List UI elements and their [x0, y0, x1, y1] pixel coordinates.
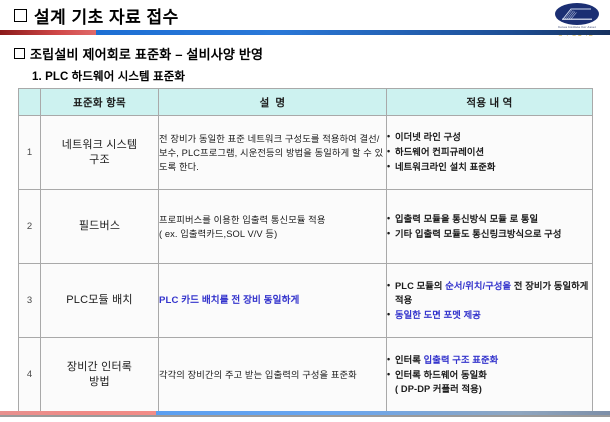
footer-rule	[0, 415, 610, 417]
subsection-heading: 1. PLC 하드웨어 시스템 표준화	[32, 68, 185, 84]
application-item: 이더넷 라인 구성	[387, 130, 592, 144]
page-title-text: 설계 기초 자료 접수	[34, 8, 179, 27]
row-number: 3	[19, 264, 41, 338]
application-list: 입출력 모듈을 통신방식 모듈 로 통일기타 입출력 모듈도 통신링크방식으로 …	[387, 212, 592, 241]
header-divider-bar	[0, 30, 610, 35]
section-heading-text: 조립설비 제어회로 표준화 – 설비사양 반영	[30, 47, 263, 62]
application-item: 인터록 하드웨어 동일화( DP-DP 커플러 적용)	[387, 368, 592, 396]
divider-red-segment	[0, 30, 96, 35]
row-application: 입출력 모듈을 통신방식 모듈 로 통일기타 입출력 모듈도 통신링크방식으로 …	[387, 190, 593, 264]
divider-blue-segment	[96, 30, 610, 35]
column-header-desc-right: 명	[275, 97, 285, 109]
row-number: 1	[19, 116, 41, 190]
column-header-desc-left: 설	[260, 97, 276, 109]
application-text: PLC 모듈의	[395, 281, 445, 291]
table-row: 1네트워크 시스템구조전 장비가 동일한 표준 네트워크 구성도를 적용하여 결…	[19, 116, 593, 190]
application-text: 입출력 구조 표준화	[424, 355, 499, 365]
application-text: 하드웨어 컨피규레이션	[395, 147, 484, 157]
table-body: 1네트워크 시스템구조전 장비가 동일한 표준 네트워크 구성도를 적용하여 결…	[19, 116, 593, 412]
application-text: ( DP-DP 커플러 적용)	[395, 384, 482, 394]
page-title: 설계 기초 자료 접수	[14, 3, 179, 28]
section-square-icon	[14, 48, 25, 59]
column-header-no	[19, 89, 41, 116]
application-item: 동일한 도면 포멧 제공	[387, 308, 592, 322]
column-header-description: 설명	[159, 89, 387, 116]
application-list: PLC 모듈의 순서/위치/구성을 전 장비가 동일하게 적용동일한 도면 포멧…	[387, 279, 592, 322]
application-item: 기타 입출력 모듈도 통신링크방식으로 구성	[387, 227, 592, 241]
application-text: 순서/위치/구성을	[445, 281, 511, 291]
title-square-icon	[14, 9, 27, 22]
application-item: 입출력 모듈을 통신방식 모듈 로 통일	[387, 212, 592, 226]
table-header-row: 표준화 항목 설명 적용 내 역	[19, 89, 593, 116]
application-item: PLC 모듈의 순서/위치/구성을 전 장비가 동일하게 적용	[387, 279, 592, 307]
section-heading: 조립설비 제어회로 표준화 – 설비사양 반영	[14, 44, 263, 63]
application-text: 인터록	[395, 355, 424, 365]
table-row: 3PLC모듈 배치PLC 카드 배치를 전 장비 동일하게PLC 모듈의 순서/…	[19, 264, 593, 338]
row-item-name: 필드버스	[41, 190, 159, 264]
row-item-name: 장비간 인터록방법	[41, 338, 159, 412]
column-header-apply: 적용 내 역	[387, 89, 593, 116]
logo-bridge-icon	[562, 7, 592, 20]
row-application: 이더넷 라인 구성하드웨어 컨피규레이션네트워크라인 설치 표준화	[387, 116, 593, 190]
column-header-item: 표준화 항목	[41, 89, 159, 116]
table-row: 4장비간 인터록방법각각의 장비간의 주고 받는 입출력의 구성을 표준화인터록…	[19, 338, 593, 412]
row-description: PLC 카드 배치를 전 장비 동일하게	[159, 264, 387, 338]
row-application: PLC 모듈의 순서/위치/구성을 전 장비가 동일하게 적용동일한 도면 포멧…	[387, 264, 593, 338]
row-number: 2	[19, 190, 41, 264]
application-text: 입출력 모듈을 통신방식 모듈 로 통일	[395, 214, 538, 224]
application-item: 하드웨어 컨피규레이션	[387, 145, 592, 159]
standardization-table: 표준화 항목 설명 적용 내 역 1네트워크 시스템구조전 장비가 동일한 표준…	[18, 88, 593, 412]
application-list: 이더넷 라인 구성하드웨어 컨피규레이션네트워크라인 설치 표준화	[387, 130, 592, 174]
row-description: 각각의 장비간의 주고 받는 입출력의 구성을 표준화	[159, 338, 387, 412]
row-application: 인터록 입출력 구조 표준화인터록 하드웨어 동일화( DP-DP 커플러 적용…	[387, 338, 593, 412]
application-text: 인터록 하드웨어 동일화	[395, 370, 487, 380]
application-text: 기타 입출력 모듈도 통신링크방식으로 구성	[395, 229, 562, 239]
row-number: 4	[19, 338, 41, 412]
application-item: 네트워크라인 설치 표준화	[387, 160, 592, 174]
row-description: 전 장비가 동일한 표준 네트워크 구성도를 적용하여 결선/보수, PLC프로…	[159, 116, 387, 190]
row-description: 프로피버스를 이용한 입출력 통신모듈 적용( ex. 입출력카드,SOL V/…	[159, 190, 387, 264]
application-text: 이더넷 라인 구성	[395, 132, 461, 142]
row-item-name: 네트워크 시스템구조	[41, 116, 159, 190]
application-text: 네트워크라인 설치 표준화	[395, 162, 496, 172]
application-item: 인터록 입출력 구조 표준화	[387, 353, 592, 367]
application-list: 인터록 입출력 구조 표준화인터록 하드웨어 동일화( DP-DP 커플러 적용…	[387, 353, 592, 396]
row-item-name: PLC모듈 배치	[41, 264, 159, 338]
application-text: 동일한 도면 포멧 제공	[395, 310, 481, 320]
table-row: 2필드버스프로피버스를 이용한 입출력 통신모듈 적용( ex. 입출력카드,S…	[19, 190, 593, 264]
